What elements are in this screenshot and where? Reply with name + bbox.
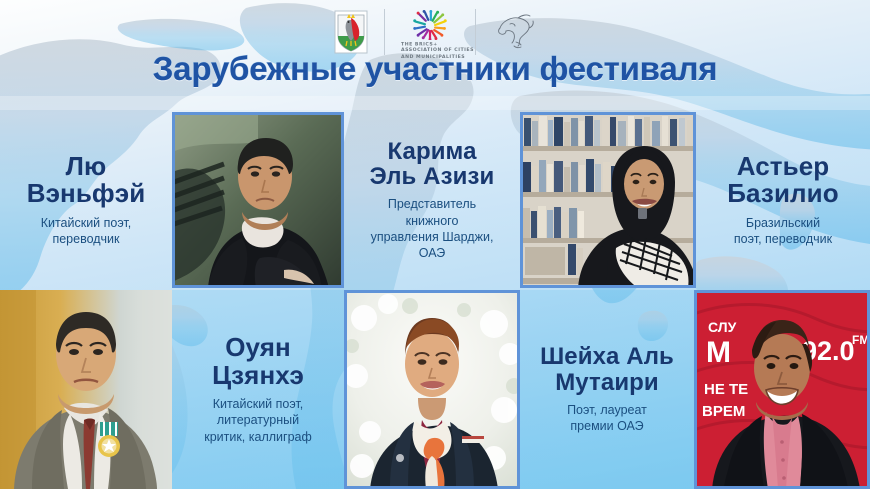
participant-photo-karima-el-azizi [520,112,696,288]
page-title: Зарубежные участники фестиваля [0,50,870,88]
participant-card-karima-el-azizi[interactable]: Карима Эль Азизи Представитель книжного … [344,112,520,288]
participant-role-line-1: Поэт, лауреат [567,402,647,418]
participants-row-top: Лю Вэньфэй Китайский поэт, переводчик [0,112,870,288]
participant-name-line-2: Вэньфэй [27,180,146,208]
participant-name-line-1: Шейха Аль [540,344,674,369]
radio-text-m: М [706,336,731,369]
participant-role: Китайский поэт, литературный критик, кал… [204,396,312,445]
participant-role-line-3: критик, каллиграф [204,429,312,445]
participant-role: Бразильский поэт, переводчик [734,215,832,248]
radio-text-nete: НЕ ТЕ [704,381,748,398]
participant-name: Шейха Аль Мутаири [540,344,674,395]
participant-name: Астьер Базилио [727,153,838,208]
participant-role-line-1: Представитель [371,196,494,212]
participant-role-line-3: управления Шарджи, [371,229,494,245]
participant-photo-lyu-venfey [172,112,344,288]
participant-role-line-1: Бразильский [734,215,832,231]
participant-role: Поэт, лауреат премии ОАЭ [567,402,647,435]
participant-name-line-2: Эль Азизи [370,164,495,189]
participant-role-line-2: литературный [204,412,312,428]
participant-card-aster-bazilio[interactable]: Астьер Базилио Бразильский поэт, перевод… [696,112,870,288]
poster-root: THE BRICS+ ASSOCIATION OF CITIES AND MUN… [0,0,870,489]
participant-role-line-2: переводчик [41,231,132,247]
radio-text-fm: FM [852,333,869,347]
participant-role-line-2: книжного [371,213,494,229]
participant-name: Лю Вэньфэй [27,153,146,208]
participant-name-line-1: Лю [27,153,146,181]
participant-name: Карима Эль Азизи [370,139,495,190]
participant-role: Китайский поэт, переводчик [41,215,132,248]
participant-photo-aster-bazilio: СЛУ М 92.0 FM НЕ ТЕ ВРЕМ [694,290,870,489]
participant-role-line-1: Китайский поэт, [41,215,132,231]
participant-name-line-2: Мутаири [540,370,674,395]
participant-photo-ouyan-czyanhe [0,290,172,489]
participant-name-line-1: Астьер [727,153,838,181]
poster-header: THE BRICS+ ASSOCIATION OF CITIES AND MUN… [0,0,870,112]
participant-card-lyu-venfey[interactable]: Лю Вэньфэй Китайский поэт, переводчик [0,112,172,288]
radio-text-vrem: ВРЕМ [702,403,745,420]
participant-role-line-2: поэт, переводчик [734,231,832,247]
participant-card-sheyha-al-mutairi[interactable]: Шейха Аль Мутаири Поэт, лауреат премии О… [520,290,694,489]
participant-role: Представитель книжного управления Шарджи… [371,196,494,261]
participant-name-line-2: Цзянхэ [212,362,304,390]
participants-row-bottom: Оуян Цзянхэ Китайский поэт, литературный… [0,290,870,489]
participant-name-line-1: Карима [370,139,495,164]
participant-name: Оуян Цзянхэ [212,334,304,389]
participant-role-line-2: премии ОАЭ [567,418,647,434]
participant-role-line-4: ОАЭ [371,245,494,261]
radio-text-slu: СЛУ [708,319,737,335]
participant-name-line-1: Оуян [212,334,304,362]
participant-role-line-1: Китайский поэт, [204,396,312,412]
participant-name-line-2: Базилио [727,180,838,208]
participant-card-ouyan-czyanhe[interactable]: Оуян Цзянхэ Китайский поэт, литературный… [172,290,344,489]
participant-photo-sheyha-al-mutairi [344,290,520,489]
